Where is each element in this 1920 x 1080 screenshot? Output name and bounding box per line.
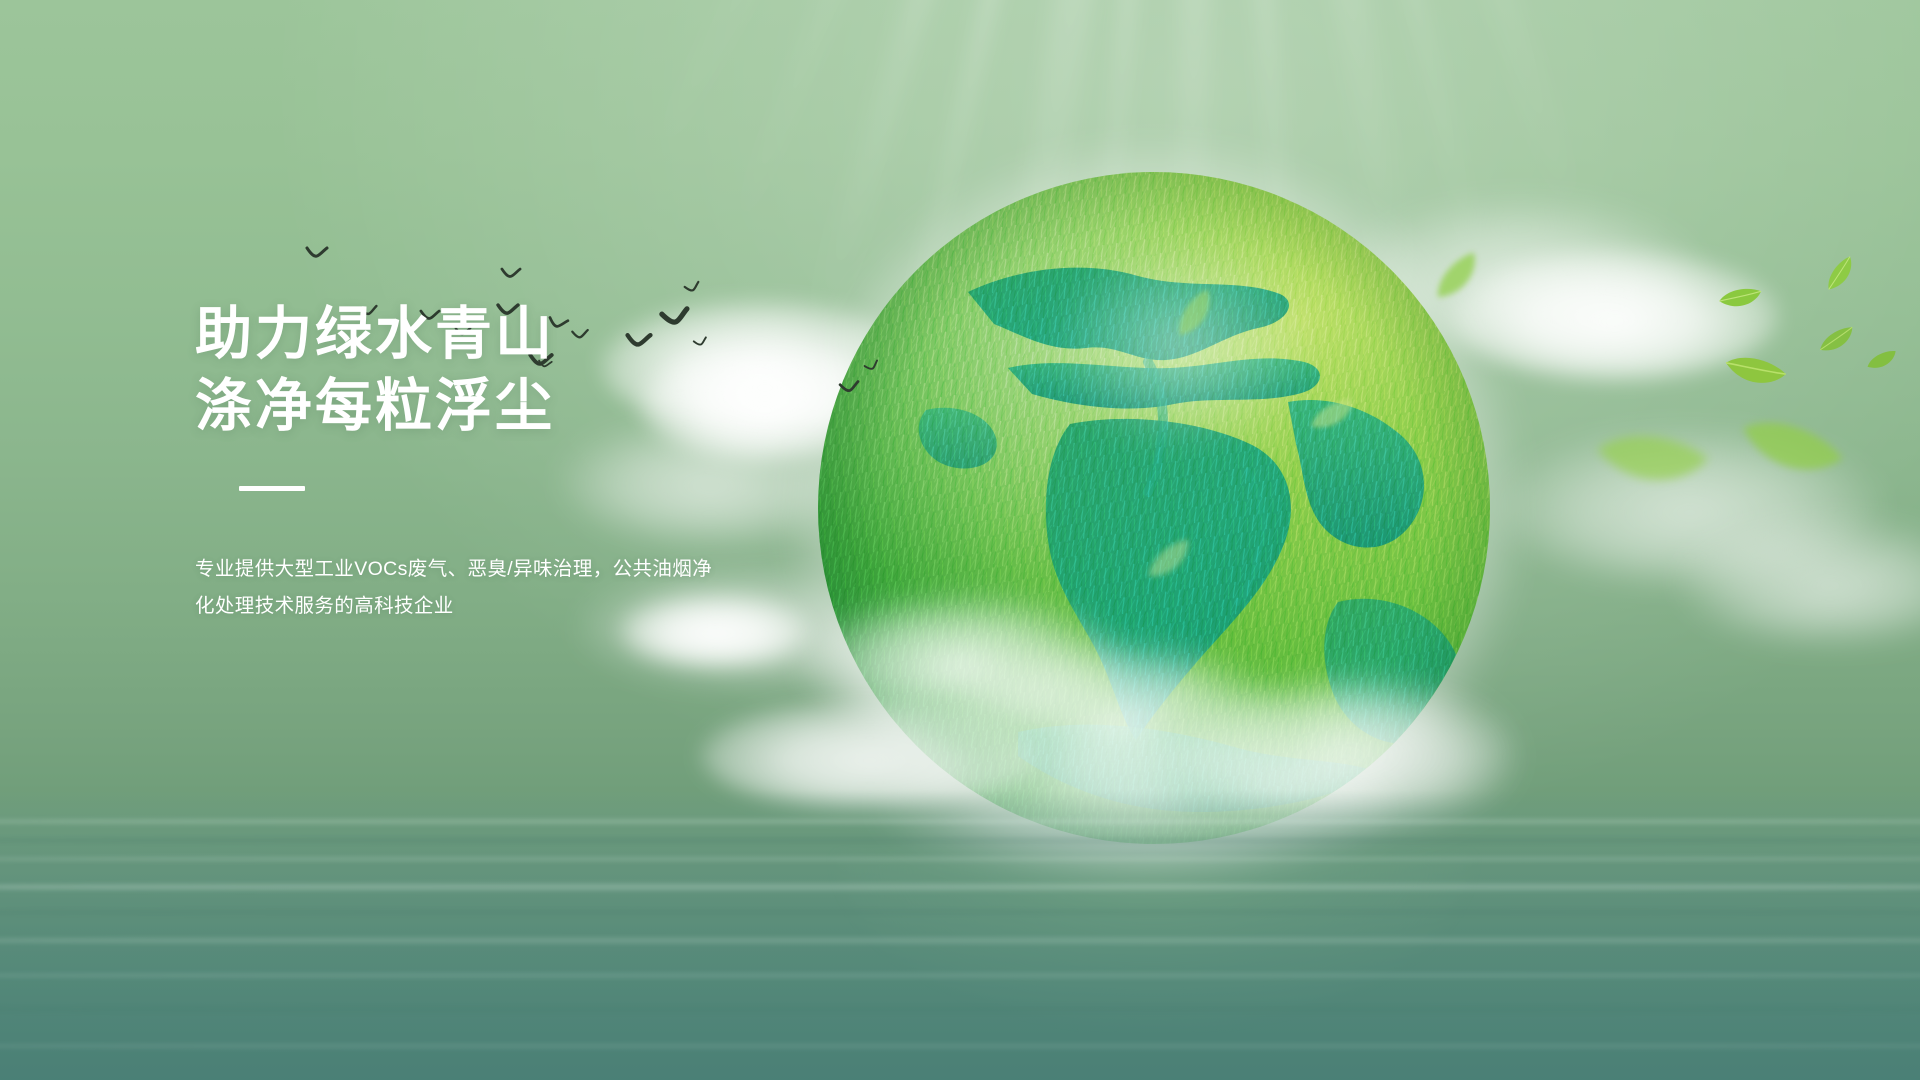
description-line-1: 专业提供大型工业VOCs废气、恶臭/异味治理，公共油烟净 <box>195 551 835 588</box>
cloud-far-right <box>1680 520 1920 640</box>
leaf-icon <box>1814 324 1861 358</box>
leaf-icon <box>1719 342 1790 401</box>
bird-icon <box>306 247 328 261</box>
title-divider <box>239 486 305 491</box>
leaf-icon <box>1583 410 1717 512</box>
bird-icon <box>684 281 703 297</box>
description-line-2: 化处理技术服务的高科技企业 <box>195 588 835 625</box>
earth-globe <box>818 172 1490 844</box>
page-title: 助力绿水青山 涤净每粒浮尘 <box>195 298 835 442</box>
headline-line-2: 涤净每粒浮尘 <box>195 370 835 442</box>
headline-line-1: 助力绿水青山 <box>195 298 835 370</box>
hero-banner: 助力绿水青山 涤净每粒浮尘 专业提供大型工业VOCs废气、恶臭/异味治理，公共油… <box>0 0 1920 1080</box>
bird-icon <box>501 268 521 281</box>
leaf-icon <box>1864 349 1901 374</box>
globe-highlight <box>1046 239 1315 454</box>
hero-copy: 助力绿水青山 涤净每粒浮尘 专业提供大型工业VOCs废气、恶臭/异味治理，公共油… <box>195 298 835 625</box>
leaf-icon <box>1717 285 1763 312</box>
hero-description: 专业提供大型工业VOCs废气、恶臭/异味治理，公共油烟净 化处理技术服务的高科技… <box>195 551 835 625</box>
leaf-icon <box>1819 254 1864 297</box>
water-surface <box>0 790 1920 1080</box>
leaf-icon <box>1727 394 1851 504</box>
